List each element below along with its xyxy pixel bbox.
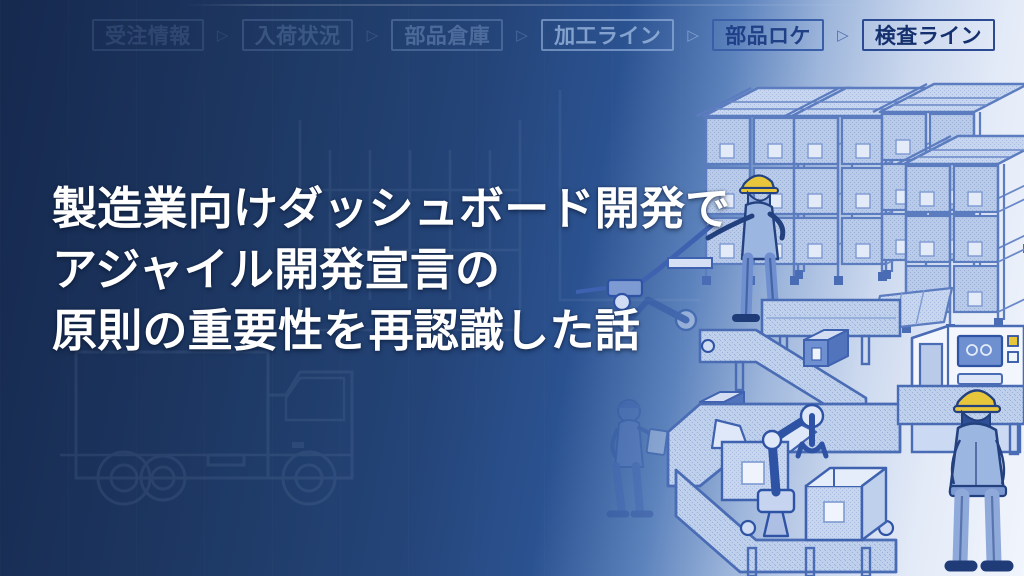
breadcrumb-item-arrival-status[interactable]: 入荷状況: [242, 19, 354, 51]
chevron-right-icon: ▷: [353, 28, 391, 43]
page-title-line-2: アジャイル開発宣言の: [52, 239, 730, 300]
chevron-right-icon: ▷: [824, 28, 862, 43]
chevron-right-icon: ▷: [674, 28, 712, 43]
slide-root: 受注情報 ▷ 入荷状況 ▷ 部品倉庫 ▷ 加工ライン ▷ 部品ロケ ▷ 検査ライ…: [0, 0, 1024, 576]
breadcrumb-item-processing-line[interactable]: 加工ライン: [541, 19, 674, 51]
breadcrumb[interactable]: 受注情報 ▷ 入荷状況 ▷ 部品倉庫 ▷ 加工ライン ▷ 部品ロケ ▷ 検査ライ…: [92, 17, 1024, 53]
chevron-right-icon: ▷: [503, 28, 541, 43]
breadcrumb-item-parts-warehouse[interactable]: 部品倉庫: [391, 19, 503, 51]
top-divider-rule: [0, 4, 1024, 6]
page-title: 製造業向けダッシュボード開発で アジャイル開発宣言の 原則の重要性を再認識した話: [52, 178, 730, 361]
breadcrumb-item-inspection-line[interactable]: 検査ライン: [862, 19, 995, 51]
breadcrumb-item-parts-location[interactable]: 部品ロケ: [712, 19, 824, 51]
page-title-line-3: 原則の重要性を再認識した話: [52, 300, 730, 361]
chevron-right-icon: ▷: [204, 28, 242, 43]
page-title-line-1: 製造業向けダッシュボード開発で: [52, 178, 730, 239]
breadcrumb-item-receiving-order[interactable]: 受注情報: [92, 19, 204, 51]
